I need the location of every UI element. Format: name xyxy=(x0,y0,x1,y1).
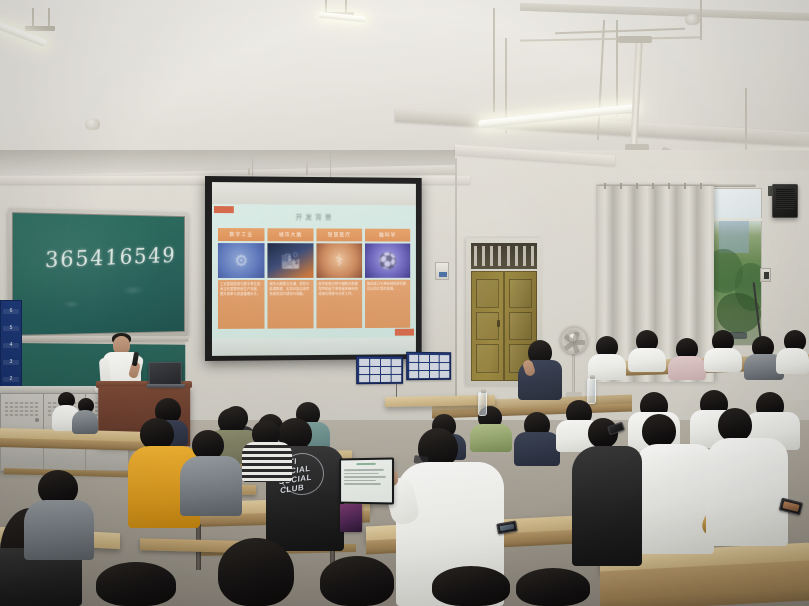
student-torso xyxy=(514,432,560,466)
notice-cell xyxy=(359,366,369,373)
notice-cell xyxy=(419,362,428,369)
laptop-text-line xyxy=(344,472,379,474)
student-torso xyxy=(24,500,94,560)
transom-bar xyxy=(482,246,485,267)
student-torso xyxy=(628,348,666,372)
sign-row: 2 xyxy=(3,377,19,382)
slide-column-header: 数字工业 xyxy=(218,228,265,241)
door-handle[interactable] xyxy=(497,320,500,327)
laptop-text-line xyxy=(344,483,381,485)
wall-corner-edge xyxy=(455,158,457,400)
notice-cell xyxy=(391,359,401,366)
foreground-head-1 xyxy=(218,538,294,606)
screen-blank-top xyxy=(212,182,416,205)
slide-column: 脑科学 ⚽ 脑机接口与神经网络研究推动认知计算的发展。 xyxy=(365,229,410,328)
projection-screen-frame: 开发背景 数字工业 ⚙ 工业智能制造与数字孪生技术正在重塑传统生产流程，提升效率… xyxy=(205,176,422,361)
student-torso xyxy=(704,348,742,372)
fan-pole xyxy=(572,352,575,396)
slide-column: 数字工业 ⚙ 工业智能制造与数字孪生技术正在重塑传统生产流程，提升效率与质量管理… xyxy=(218,228,265,329)
cabinet-vent xyxy=(5,410,39,412)
window xyxy=(712,188,762,346)
transom-bar xyxy=(498,246,501,267)
curtain-hook xyxy=(636,183,638,189)
ceiling-frame-edge-2 xyxy=(520,36,700,41)
notice-cell xyxy=(359,358,369,365)
medical-icon: ⚕ xyxy=(335,251,343,271)
presenter-laptop-base xyxy=(147,384,185,388)
light-hanger-3a xyxy=(493,8,495,112)
smoke-detector xyxy=(685,14,700,25)
classroom-photo: 365416549 6 5 4 3 2 1 开发背景 数字工业 ⚙ 工业智能制造… xyxy=(0,0,809,606)
phone-screen xyxy=(782,501,799,512)
city-icon: 🏙 xyxy=(281,251,301,271)
laptop-text-line xyxy=(344,479,376,481)
notice-cell xyxy=(380,359,390,366)
door-inset xyxy=(509,312,532,341)
projected-slide: 开发背景 数字工业 ⚙ 工业智能制造与数字孪生技术正在重塑传统生产流程，提升效率… xyxy=(212,204,416,339)
hanger-wire-b xyxy=(700,0,702,40)
blackboard: 365416549 xyxy=(12,212,185,336)
curtain-hook xyxy=(604,183,606,189)
slide-column-image: 🏙 xyxy=(267,243,313,278)
water-bottle-2[interactable] xyxy=(478,392,487,416)
wall-outlet[interactable] xyxy=(760,268,771,282)
outlet-slot xyxy=(764,272,769,279)
cabinet-handle[interactable] xyxy=(35,418,39,422)
slide-column-body: 脑机接口与神经网络研究推动认知计算的发展。 xyxy=(365,280,410,328)
notice-cell xyxy=(440,363,449,370)
slide-column-header: 城市大脑 xyxy=(267,228,313,241)
notice-cell xyxy=(409,371,418,378)
blackboard-chalk-tray xyxy=(8,336,188,342)
laptop-text-line xyxy=(344,469,383,471)
cabinet-vent xyxy=(5,402,39,404)
slide-column-image: ⚕ xyxy=(316,243,362,278)
curtain-hook xyxy=(620,183,622,189)
slide-column-body: 城市大脑整合交通、安防与能源数据，实现对复杂城市系统的实时感知与调度。 xyxy=(267,280,313,329)
student-head-guitar-tee xyxy=(642,414,676,448)
sign-row: 5 xyxy=(3,326,19,331)
laptop-slide-title xyxy=(356,463,376,465)
presenter-laptop-screen xyxy=(149,362,182,385)
notice-cell xyxy=(419,371,428,378)
transom-bar xyxy=(490,246,493,267)
door-inset xyxy=(476,279,499,308)
laptop-text-line xyxy=(344,476,386,478)
ceiling-frame-edge xyxy=(555,28,685,34)
door-inset xyxy=(476,344,499,373)
notice-cell xyxy=(380,367,390,374)
phone-screen xyxy=(500,524,515,531)
chalk-smudge-2 xyxy=(122,286,145,296)
notice-cell xyxy=(440,355,449,362)
notice-cell xyxy=(370,358,380,365)
smoke-detector-2 xyxy=(85,118,100,130)
student-torso xyxy=(72,410,98,434)
notebook-on-desk[interactable] xyxy=(340,504,362,532)
notice-panel-1 xyxy=(356,356,403,384)
slide-title: 开发背景 xyxy=(212,212,416,223)
notice-cell xyxy=(391,367,401,374)
door-inset xyxy=(476,312,499,341)
screen-wire-right xyxy=(330,152,331,178)
slide-corner-accent-bottomright xyxy=(395,329,414,336)
notice-cell xyxy=(419,354,428,361)
chalk-number: 365416549 xyxy=(45,244,177,273)
foreground-head-6 xyxy=(516,568,590,606)
student-torso xyxy=(180,456,242,516)
transom-bar xyxy=(531,246,534,267)
projector-ceiling-mount xyxy=(618,36,652,43)
transom-bar xyxy=(474,246,477,267)
water-bottle[interactable] xyxy=(587,378,596,404)
speaker-grill xyxy=(776,188,794,209)
slide-column-body: 工业智能制造与数字孪生技术正在重塑传统生产流程，提升效率与质量管理水平。 xyxy=(218,280,265,329)
wall-control-indicator xyxy=(439,272,447,277)
chalk-smudge-1 xyxy=(63,300,80,308)
door-transom-window xyxy=(471,243,537,269)
student-torso-dark-foreground xyxy=(572,446,642,566)
notice-cell xyxy=(391,374,401,381)
slide-column: 城市大脑 🏙 城市大脑整合交通、安防与能源数据，实现对复杂城市系统的实时感知与调… xyxy=(267,228,313,328)
foreground-head-3 xyxy=(96,562,176,606)
sign-row: 3 xyxy=(3,360,19,365)
transom-bar xyxy=(515,246,518,267)
student-torso xyxy=(706,438,788,546)
slide-column-body: 医学影像识别与辅助诊断模型帮助医生更快速准确地完成病灶筛查与分析工作。 xyxy=(316,280,362,329)
notice-cell xyxy=(440,370,449,377)
bottle-cap xyxy=(590,375,595,379)
student-head xyxy=(718,408,752,442)
blackboard-frame: 365416549 xyxy=(8,208,188,340)
sign-row: 6 xyxy=(3,309,19,314)
notice-cell xyxy=(409,362,418,369)
bottle-cap xyxy=(481,389,486,393)
notice-cell xyxy=(429,370,438,377)
student-torso-green xyxy=(470,424,512,452)
notice-panel-2 xyxy=(406,352,451,380)
notice-cell xyxy=(429,363,438,370)
door-inset xyxy=(509,279,532,308)
foreground-head-5 xyxy=(432,566,510,606)
light-bracket-1 xyxy=(25,26,55,31)
notice-cell xyxy=(409,354,418,361)
slide-columns: 数字工业 ⚙ 工业智能制造与数字孪生技术正在重塑传统生产流程，提升效率与质量管理… xyxy=(218,228,410,329)
student-torso xyxy=(668,356,706,380)
building-outside xyxy=(719,219,749,253)
slide-column-header: 智慧医疗 xyxy=(316,228,362,241)
notice-cell xyxy=(380,374,390,381)
foreground-head-2 xyxy=(320,556,394,606)
light-hanger-3b xyxy=(616,20,618,116)
machinery-icon: ⚙ xyxy=(234,251,248,271)
transom-bar xyxy=(507,246,510,267)
student-laptop[interactable] xyxy=(339,457,394,504)
notice-cell xyxy=(370,366,380,373)
sign-row: 4 xyxy=(3,343,19,348)
curtain-hook xyxy=(652,183,654,189)
cabinet-vent xyxy=(5,414,39,416)
student-torso xyxy=(776,348,809,374)
student-torso-striped xyxy=(242,442,292,482)
slide-column-image: ⚽ xyxy=(365,243,410,277)
wall-control-box xyxy=(435,262,449,280)
notice-cell xyxy=(359,375,369,382)
transom-bar xyxy=(523,246,526,267)
notice-cell xyxy=(429,355,438,362)
ceiling-beam-far xyxy=(520,3,809,21)
slide-column-image: ⚙ xyxy=(218,243,265,278)
cabinet-vent xyxy=(5,406,39,408)
screen-blank-bottom xyxy=(212,338,416,356)
curtain-hook xyxy=(700,183,702,189)
wall-speaker xyxy=(772,184,798,218)
curtain-hook xyxy=(668,183,670,189)
curtain-hook xyxy=(684,183,686,189)
slide-column-header: 脑科学 xyxy=(365,229,410,242)
notice-cell xyxy=(370,375,380,382)
slide-column: 智慧医疗 ⚕ 医学影像识别与辅助诊断模型帮助医生更快速准确地完成病灶筛查与分析工… xyxy=(316,228,362,328)
brain-icon: ⚽ xyxy=(378,251,397,271)
window-sash xyxy=(712,218,762,221)
wall-fan[interactable] xyxy=(560,326,588,354)
